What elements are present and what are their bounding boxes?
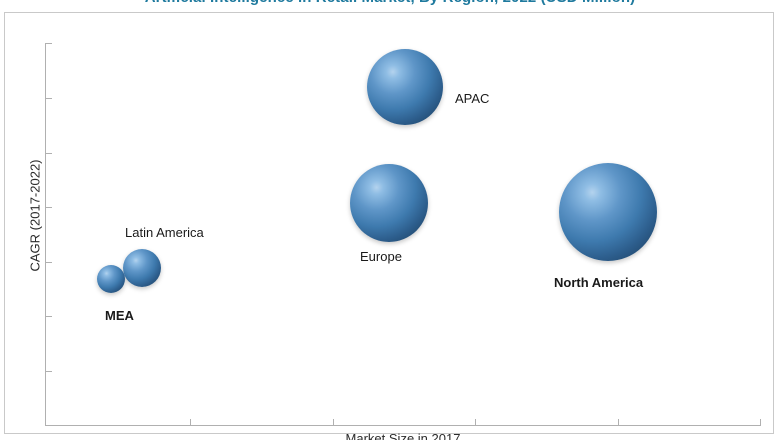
x-axis-tick [333, 419, 334, 425]
chart-title: Artificial Intelligence in Retail Market… [0, 0, 780, 6]
y-axis-tick [46, 98, 52, 99]
bubble-label-latin-america: Latin America [125, 225, 204, 240]
plot-area-frame: CAGR (2017-2022) Market Size in 2017 APA… [4, 12, 774, 434]
bubble-europe[interactable] [350, 164, 428, 242]
x-axis-tick [760, 419, 761, 425]
y-axis-tick [46, 262, 52, 263]
bubble-label-europe: Europe [360, 249, 402, 264]
y-axis-tick [46, 316, 52, 317]
bubble-latin-america[interactable] [123, 249, 161, 287]
y-axis-tick [46, 425, 52, 426]
x-axis-tick [618, 419, 619, 425]
y-axis-tick [46, 207, 52, 208]
x-axis-title: Market Size in 2017 [45, 431, 761, 440]
bubble-label-mea: MEA [105, 308, 134, 323]
chart-screenshot: Artificial Intelligence in Retail Market… [0, 0, 780, 440]
y-axis-line [45, 43, 46, 426]
y-axis-title: CAGR (2017-2022) [28, 116, 43, 316]
y-axis-tick [46, 371, 52, 372]
bubble-label-apac: APAC [455, 91, 489, 106]
y-axis-tick [46, 153, 52, 154]
x-axis-line [45, 425, 761, 426]
x-axis-tick [190, 419, 191, 425]
bubble-mea[interactable] [97, 265, 125, 293]
bubble-apac[interactable] [367, 49, 443, 125]
y-axis-tick [46, 43, 52, 44]
bubble-north-america[interactable] [559, 163, 657, 261]
bubble-label-north-america: North America [554, 275, 643, 290]
x-axis-tick [475, 419, 476, 425]
